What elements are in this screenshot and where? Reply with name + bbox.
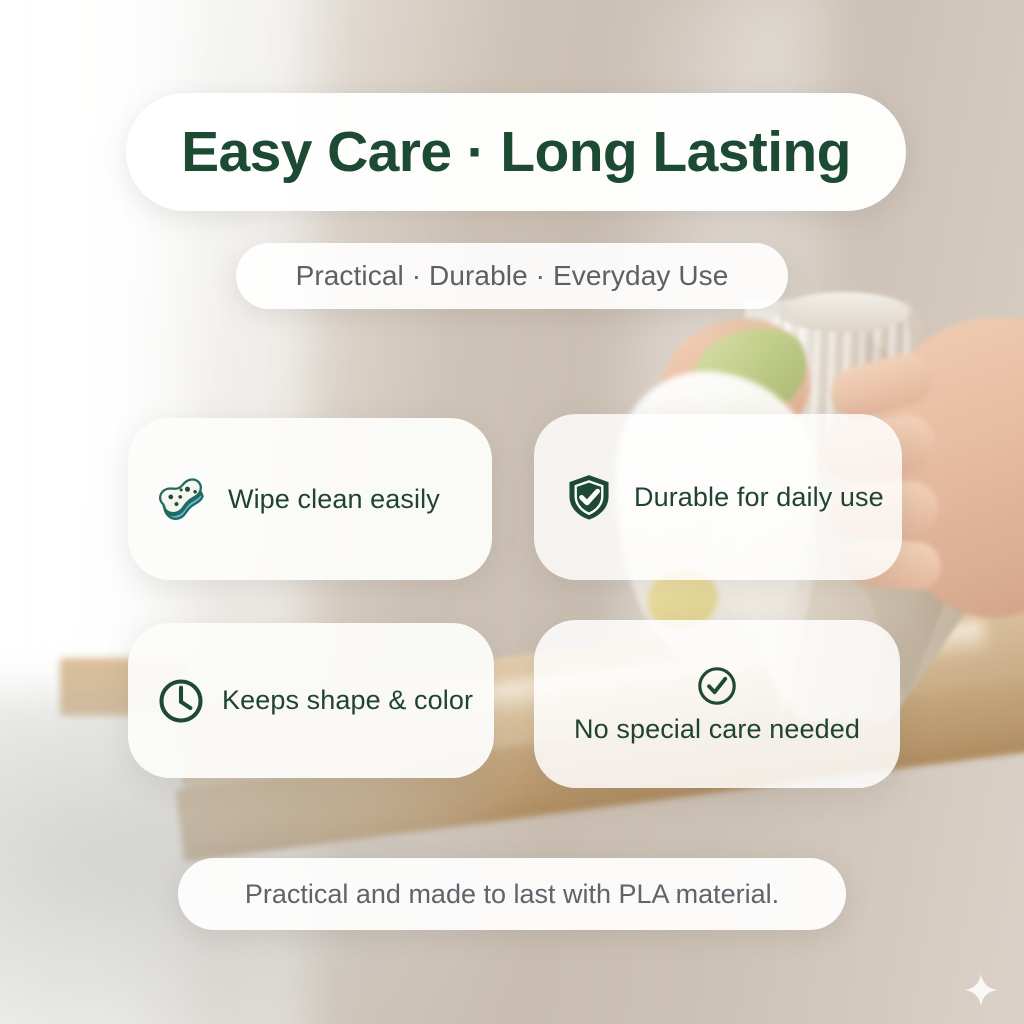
caption-pill: Practical and made to last with PLA mate… [178, 858, 846, 930]
feature-card-wipe-clean[interactable]: Wipe clean easily [128, 418, 492, 580]
shield-check-icon [564, 472, 614, 522]
feature-card-durable[interactable]: Durable for daily use [534, 414, 902, 580]
feature-card-keeps-shape[interactable]: Keeps shape & color [128, 623, 494, 778]
check-circle-icon [695, 664, 739, 708]
feature-label-durable: Durable for daily use [634, 482, 884, 513]
feature-card-no-special-care[interactable]: No special care needed [534, 620, 900, 788]
sparkle-icon [963, 972, 999, 1008]
subtitle-pill: Practical · Durable · Everyday Use [236, 243, 788, 309]
footer-caption: Practical and made to last with PLA mate… [245, 879, 779, 910]
clock-icon [156, 676, 206, 726]
page-title: Easy Care · Long Lasting [181, 119, 851, 185]
content-overlay: Easy Care · Long Lasting Practical · Dur… [0, 0, 1024, 1024]
feature-label-no-special-care: No special care needed [574, 714, 860, 745]
feature-label-keeps-shape: Keeps shape & color [222, 685, 473, 716]
title-pill: Easy Care · Long Lasting [126, 93, 906, 211]
page-subtitle: Practical · Durable · Everyday Use [296, 260, 729, 292]
sponge-icon [154, 471, 210, 527]
infographic-canvas: Easy Care · Long Lasting Practical · Dur… [0, 0, 1024, 1024]
feature-label-wipe-clean: Wipe clean easily [228, 484, 440, 515]
